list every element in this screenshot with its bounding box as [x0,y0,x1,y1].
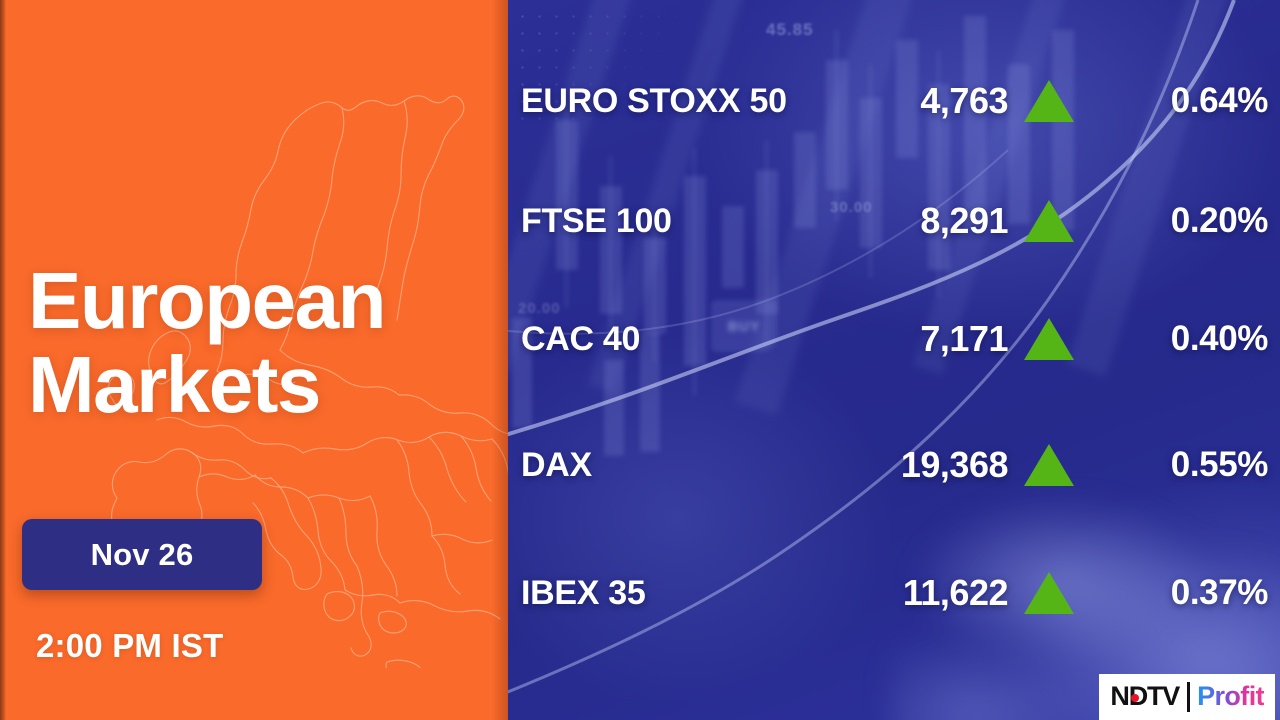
panel-divider-shadow [492,0,508,720]
index-name: EURO STOXX 50 [521,82,787,121]
index-value: 7,171 [838,318,1008,360]
date-badge: Nov 26 [22,519,262,590]
index-change-percent: 0.55% [1108,445,1268,485]
index-name: FTSE 100 [521,202,672,241]
up-arrow-icon [1023,444,1075,486]
ndtv-wordmark: NDTV [1110,681,1179,712]
index-value: 4,763 [838,80,1008,122]
up-arrow-icon [1023,318,1075,360]
table-row: CAC 40 7,171 0.40% [508,306,1280,372]
index-value: 11,622 [838,572,1008,614]
index-change-percent: 0.64% [1108,81,1268,121]
up-arrow-icon [1023,80,1075,122]
index-name: DAX [521,446,592,485]
up-arrow-icon [1023,572,1075,614]
index-change-percent: 0.20% [1108,201,1268,241]
date-badge-label: Nov 26 [91,537,194,573]
index-change-percent: 0.40% [1108,319,1268,359]
page-title: European Markets [28,262,498,423]
table-row: EURO STOXX 50 4,763 0.64% [508,68,1280,134]
left-title-panel: European Markets Nov 26 2:00 PM IST [0,0,508,720]
table-row: IBEX 35 11,622 0.37% [508,560,1280,626]
time-label: 2:00 PM IST [36,627,223,665]
ndtv-profit-logo: NDTV Profit [1099,674,1275,720]
table-row: DAX 19,368 0.55% [508,432,1280,498]
profit-wordmark: Profit [1197,681,1264,712]
index-value: 8,291 [838,200,1008,242]
index-name: CAC 40 [521,320,640,359]
index-table: EURO STOXX 50 4,763 0.64% FTSE 100 8,291… [508,0,1280,720]
markets-graphic: European Markets Nov 26 2:00 PM IST [0,0,1280,720]
logo-separator [1187,682,1190,712]
headline-line-2: Markets [28,346,498,424]
index-change-percent: 0.37% [1108,573,1268,613]
ndtv-text: NDTV [1110,681,1179,711]
index-value: 19,368 [838,444,1008,486]
headline-line-1: European [28,262,498,340]
up-arrow-icon [1023,200,1075,242]
left-edge-strip [0,0,6,720]
table-row: FTSE 100 8,291 0.20% [508,188,1280,254]
market-data-panel: 45.85 30.00 20.00 BUY EURO STOXX 50 4,76… [508,0,1280,720]
index-name: IBEX 35 [521,574,646,613]
